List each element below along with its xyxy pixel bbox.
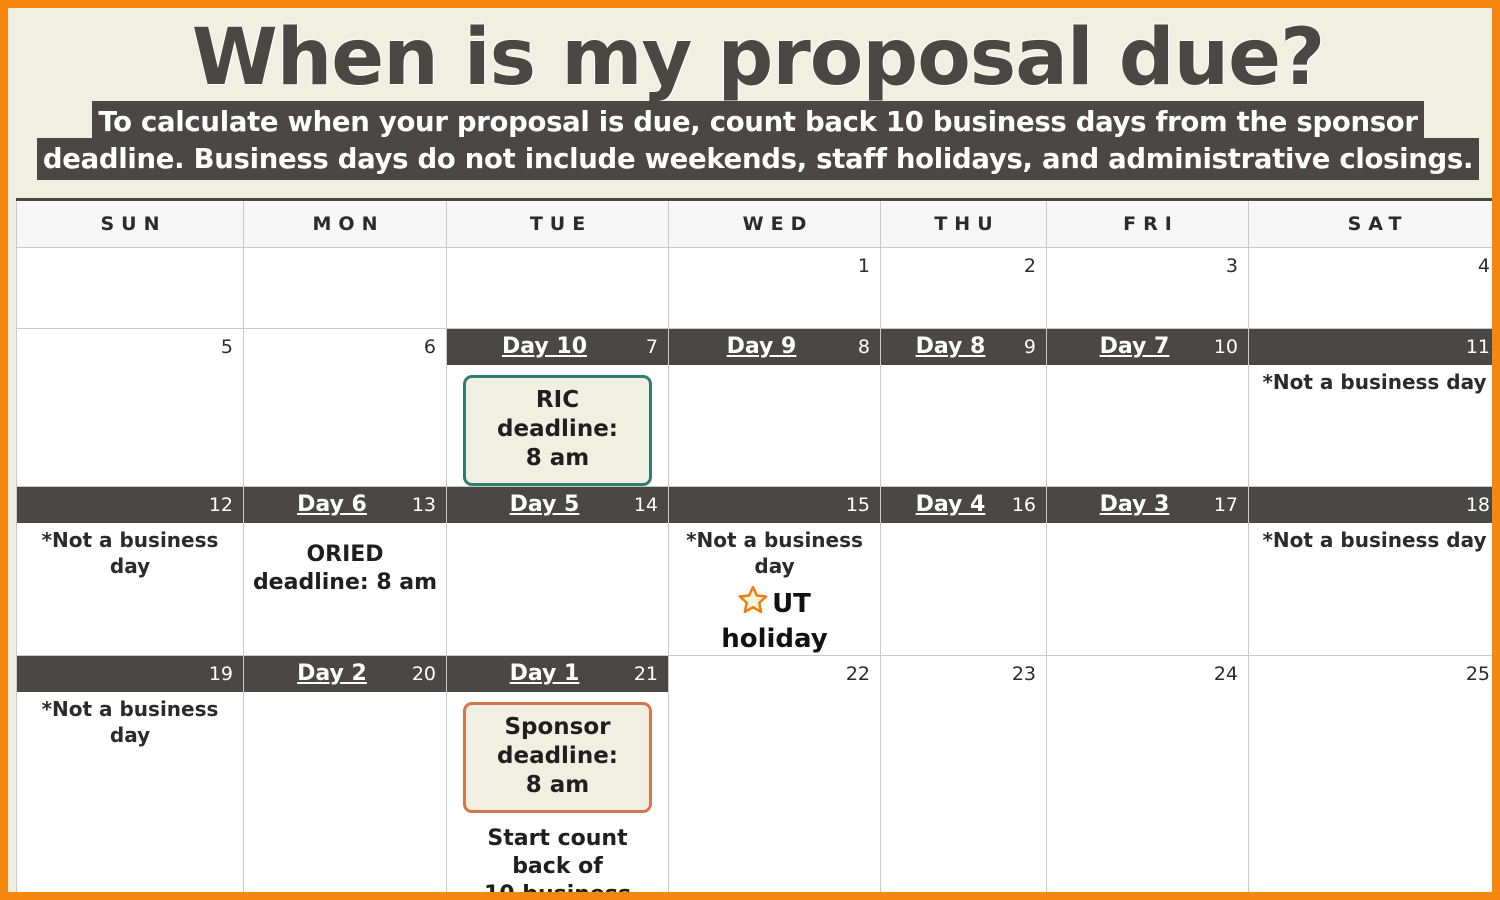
dow-header-wed: WED <box>669 200 881 248</box>
calendar-grid: SUN MON TUE WED THU FRI SAT 123456Day 10… <box>16 198 1500 900</box>
day-number: 11 <box>1466 329 1490 365</box>
day-header-bar: 2 <box>881 248 1046 284</box>
calendar-day-cell[interactable]: Day 416 <box>881 487 1047 656</box>
day-number: 16 <box>1012 487 1036 523</box>
day-header-bar: 22 <box>669 656 880 692</box>
day-number: 13 <box>412 487 436 523</box>
calendar-week-row: 19*Not a business dayDay 220Day 121Spons… <box>17 656 1500 900</box>
calendar-day-cell[interactable] <box>17 248 244 329</box>
day-header-bar: 15 <box>669 487 880 523</box>
day-header-bar: 18 <box>1249 487 1500 523</box>
not-a-business-day-note: *Not a business day <box>677 527 872 579</box>
day-header-bar: Day 107 <box>447 329 668 365</box>
day-cell-body: *Not a business day <box>1249 523 1500 553</box>
day-number: 23 <box>1012 656 1036 692</box>
subtitle-line-1: To calculate when your proposal is due, … <box>96 105 1419 139</box>
calendar-day-cell[interactable]: 6 <box>244 329 447 487</box>
calendar-day-cell[interactable]: 24 <box>1047 656 1249 900</box>
calendar-body: 123456Day 107RIC deadline:8 amDay 98Day … <box>17 248 1500 900</box>
day-header-bar: 1 <box>669 248 880 284</box>
day-number: 18 <box>1466 487 1490 523</box>
day-number: 2 <box>1024 248 1036 284</box>
day-header-bar: Day 121 <box>447 656 668 692</box>
calendar-day-cell[interactable]: 1 <box>669 248 881 329</box>
calendar-day-cell[interactable] <box>447 248 669 329</box>
day-cell-body: *Not a business day <box>1249 365 1500 395</box>
day-header-bar: Day 416 <box>881 487 1046 523</box>
day-cell-body: Sponsor deadline:8 amStart count back of… <box>447 692 668 900</box>
day-header-bar: 6 <box>244 329 446 365</box>
not-a-business-day-note: *Not a business day <box>1257 369 1492 395</box>
page-title: When is my proposal due? <box>16 8 1500 104</box>
not-a-business-day-note: *Not a business day <box>25 527 235 579</box>
poster-subtitle: To calculate when your proposal is due, … <box>16 104 1500 178</box>
not-a-business-day-note: *Not a business day <box>1257 527 1492 553</box>
countdown-day-label: Day 1 <box>457 656 658 692</box>
day-number: 14 <box>634 487 658 523</box>
dow-header-sun: SUN <box>17 200 244 248</box>
day-header-bar: 3 <box>1047 248 1248 284</box>
calendar-day-cell[interactable]: 11*Not a business day <box>1249 329 1500 487</box>
dow-header-fri: FRI <box>1047 200 1249 248</box>
countdown-day-label: Day 6 <box>254 487 436 523</box>
calendar-day-cell[interactable]: Day 613ORIEDdeadline: 8 am <box>244 487 447 656</box>
calendar-day-cell[interactable]: Day 98 <box>669 329 881 487</box>
calendar-day-cell[interactable]: 22 <box>669 656 881 900</box>
countdown-day-label: Day 5 <box>457 487 658 523</box>
calendar-day-cell[interactable] <box>244 248 447 329</box>
calendar-day-cell[interactable]: 2 <box>881 248 1047 329</box>
dow-header-sat: SAT <box>1249 200 1500 248</box>
poster-header: When is my proposal due? To calculate wh… <box>16 8 1500 198</box>
day-number: 3 <box>1226 248 1238 284</box>
proposal-due-calendar-poster: When is my proposal due? To calculate wh… <box>0 0 1500 900</box>
countdown-day-label: Day 8 <box>891 329 1036 365</box>
day-number: 24 <box>1214 656 1238 692</box>
calendar-day-cell[interactable]: 4 <box>1249 248 1500 329</box>
day-number: 21 <box>634 656 658 692</box>
day-number: 7 <box>646 329 658 365</box>
day-number: 12 <box>209 487 233 523</box>
start-count-back-note: Start count back of10 business days. <box>455 825 660 900</box>
calendar-day-cell[interactable]: Day 514 <box>447 487 669 656</box>
day-header-bar: Day 514 <box>447 487 668 523</box>
day-number: 8 <box>858 329 870 365</box>
sponsor-deadline-callout: Sponsor deadline:8 am <box>463 702 652 813</box>
calendar-day-cell[interactable]: Day 89 <box>881 329 1047 487</box>
subtitle-line-2: deadline. Business days do not include w… <box>41 142 1475 176</box>
dow-header-mon: MON <box>244 200 447 248</box>
day-header-bar: 4 <box>1249 248 1500 284</box>
not-a-business-day-note: *Not a business day <box>25 696 235 748</box>
day-cell-body: RIC deadline:8 am <box>447 365 668 486</box>
calendar-day-cell[interactable]: 18*Not a business day <box>1249 487 1500 656</box>
calendar-day-cell[interactable]: Day 121Sponsor deadline:8 amStart count … <box>447 656 669 900</box>
day-cell-body: ORIEDdeadline: 8 am <box>244 523 446 597</box>
day-header-bar: Day 98 <box>669 329 880 365</box>
day-header-bar: Day 317 <box>1047 487 1248 523</box>
day-number: 6 <box>424 329 436 365</box>
day-header-bar: Day 89 <box>881 329 1046 365</box>
day-number: 10 <box>1214 329 1238 365</box>
day-cell-body: *Not a business day <box>17 692 243 748</box>
calendar-day-cell[interactable]: 3 <box>1047 248 1249 329</box>
countdown-day-label: Day 10 <box>457 329 658 365</box>
dow-header-thu: THU <box>881 200 1047 248</box>
day-header-bar: 5 <box>17 329 243 365</box>
calendar-day-cell[interactable]: Day 710 <box>1047 329 1249 487</box>
day-number: 5 <box>221 329 233 365</box>
day-number: 22 <box>846 656 870 692</box>
day-number: 4 <box>1478 248 1490 284</box>
day-header-bar: 25 <box>1249 656 1500 692</box>
day-number: 20 <box>412 656 436 692</box>
star-icon <box>738 585 768 623</box>
day-number: 25 <box>1466 656 1490 692</box>
day-cell-body: *Not a business dayUTholiday <box>669 523 880 655</box>
calendar-day-cell[interactable]: 19*Not a business day <box>17 656 244 900</box>
calendar-day-cell[interactable]: Day 317 <box>1047 487 1249 656</box>
day-number: 19 <box>209 656 233 692</box>
day-header-bar: 19 <box>17 656 243 692</box>
day-header-bar: Day 613 <box>244 487 446 523</box>
calendar-day-cell[interactable]: Day 107RIC deadline:8 am <box>447 329 669 487</box>
day-header-bar: 24 <box>1047 656 1248 692</box>
day-header-bar: Day 220 <box>244 656 446 692</box>
countdown-day-label: Day 3 <box>1057 487 1238 523</box>
calendar-day-cell[interactable]: 5 <box>17 329 244 487</box>
calendar-day-cell[interactable]: Day 220 <box>244 656 447 900</box>
day-number: 9 <box>1024 329 1036 365</box>
calendar-day-cell[interactable]: 15*Not a business dayUTholiday <box>669 487 881 656</box>
calendar-header-row: SUN MON TUE WED THU FRI SAT <box>17 200 1500 248</box>
day-header-bar <box>447 248 668 284</box>
ut-holiday-label: UTholiday <box>677 585 872 655</box>
day-header-bar <box>244 248 446 284</box>
calendar-day-cell[interactable]: 25 <box>1249 656 1500 900</box>
day-cell-body: *Not a business day <box>17 523 243 579</box>
day-number: 17 <box>1214 487 1238 523</box>
countdown-day-label: Day 7 <box>1057 329 1238 365</box>
day-number: 15 <box>846 487 870 523</box>
dow-header-tue: TUE <box>447 200 669 248</box>
day-header-bar <box>17 248 243 284</box>
day-number: 1 <box>858 248 870 284</box>
day-header-bar: 11 <box>1249 329 1500 365</box>
day-header-bar: 23 <box>881 656 1046 692</box>
day-header-bar: 12 <box>17 487 243 523</box>
calendar-day-cell[interactable]: 23 <box>881 656 1047 900</box>
calendar-day-cell[interactable]: 12*Not a business day <box>17 487 244 656</box>
calendar-week-row: 56Day 107RIC deadline:8 amDay 98Day 89Da… <box>17 329 1500 487</box>
calendar-week-row: 12*Not a business dayDay 613ORIEDdeadlin… <box>17 487 1500 656</box>
oried-deadline-note: ORIEDdeadline: 8 am <box>252 541 438 597</box>
day-header-bar: Day 710 <box>1047 329 1248 365</box>
countdown-day-label: Day 9 <box>679 329 870 365</box>
ric-deadline-callout: RIC deadline:8 am <box>463 375 652 486</box>
countdown-day-label: Day 2 <box>254 656 436 692</box>
calendar-week-row: 1234 <box>17 248 1500 329</box>
